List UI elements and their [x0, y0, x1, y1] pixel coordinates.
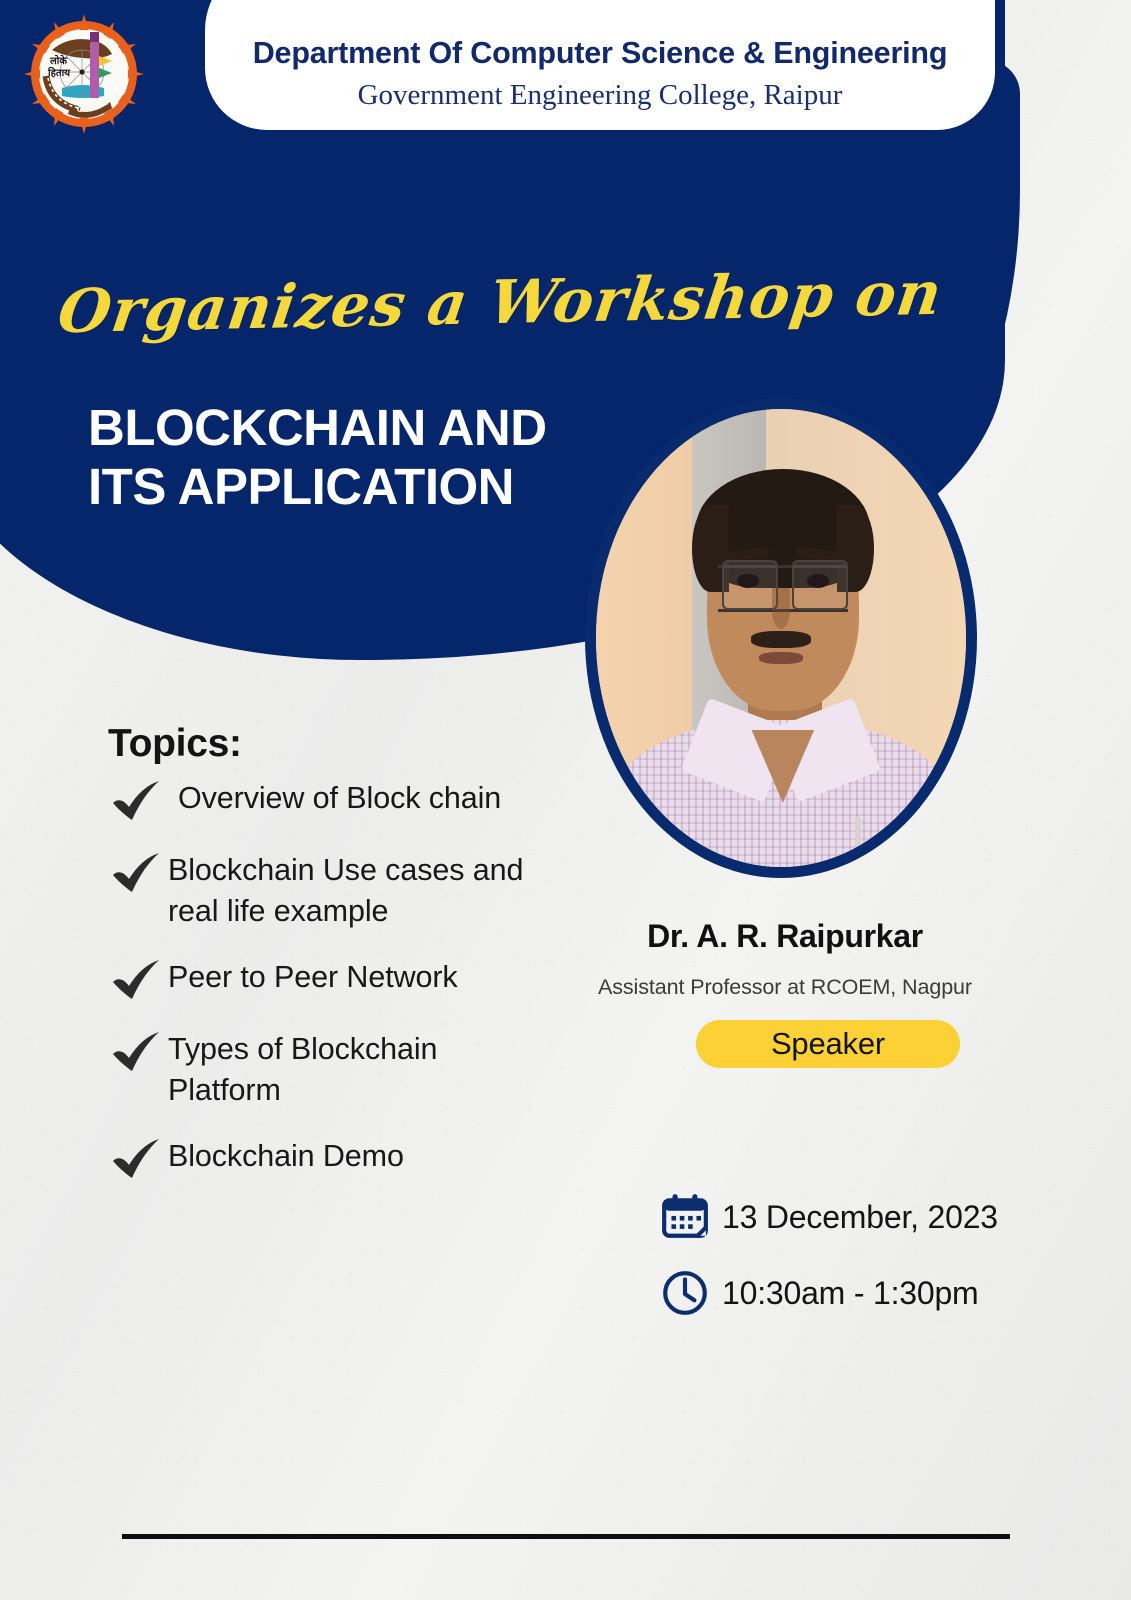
event-date: 13 December, 2023	[722, 1199, 998, 1236]
photo-moustache	[751, 631, 810, 647]
check-icon	[110, 1138, 168, 1182]
speaker-affiliation: Assistant Professor at RCOEM, Nagpur	[575, 975, 995, 1000]
photo-lips	[759, 652, 803, 664]
title-line-1: BLOCKCHAIN AND	[88, 398, 547, 457]
college-title: Government Engineering College, Raipur	[358, 80, 843, 112]
topic-item: Blockchain Demo	[110, 1136, 630, 1182]
calendar-icon	[660, 1192, 722, 1242]
check-icon	[110, 1031, 168, 1075]
topic-item: Types of Blockchain Platform	[110, 1029, 630, 1110]
event-details: 13 December, 2023 10:30am - 1:30pm	[660, 1192, 998, 1344]
event-time-row: 10:30am - 1:30pm	[660, 1268, 998, 1318]
clock-icon	[660, 1268, 722, 1318]
photo-pocket-pen	[855, 817, 861, 847]
speaker-name: Dr. A. R. Raipurkar	[585, 918, 985, 955]
topic-label: Overview of Block chain	[168, 778, 501, 819]
title-line-2: ITS APPLICATION	[88, 457, 547, 516]
topics-list: Overview of Block chain Blockchain Use c…	[110, 778, 630, 1208]
topic-label: Blockchain Demo	[168, 1136, 404, 1177]
department-title: Department Of Computer Science & Enginee…	[253, 37, 948, 71]
event-time: 10:30am - 1:30pm	[722, 1275, 979, 1312]
svg-text:हिताय: हिताय	[47, 66, 71, 79]
check-icon	[110, 780, 168, 824]
check-icon	[110, 852, 168, 896]
check-icon	[110, 959, 168, 1003]
page-title: BLOCKCHAIN AND ITS APPLICATION	[88, 398, 547, 516]
photo-eye-right	[807, 574, 829, 588]
photo-nose	[772, 588, 791, 629]
event-date-row: 13 December, 2023	[660, 1192, 998, 1242]
college-logo-icon: लोके हिताय G.E.C.R.	[20, 10, 148, 138]
topic-label: Types of Blockchain Platform	[168, 1029, 437, 1110]
topic-label: Blockchain Use cases and real life examp…	[168, 850, 523, 931]
topic-item: Blockchain Use cases and real life examp…	[110, 850, 630, 931]
speaker-photo-ring	[585, 398, 977, 878]
workshop-poster: Department Of Computer Science & Enginee…	[0, 0, 1131, 1600]
footer-divider	[122, 1534, 1010, 1539]
topic-item: Peer to Peer Network	[110, 957, 630, 1003]
speaker-badge: Speaker	[696, 1020, 960, 1068]
speaker-photo	[585, 398, 977, 878]
topics-heading: Topics:	[108, 722, 242, 766]
topic-item: Overview of Block chain	[110, 778, 630, 824]
svg-text:लोके: लोके	[49, 54, 68, 67]
header-card: Department Of Computer Science & Enginee…	[205, 0, 995, 130]
photo-eye-left	[737, 574, 759, 588]
topic-label: Peer to Peer Network	[168, 957, 458, 998]
